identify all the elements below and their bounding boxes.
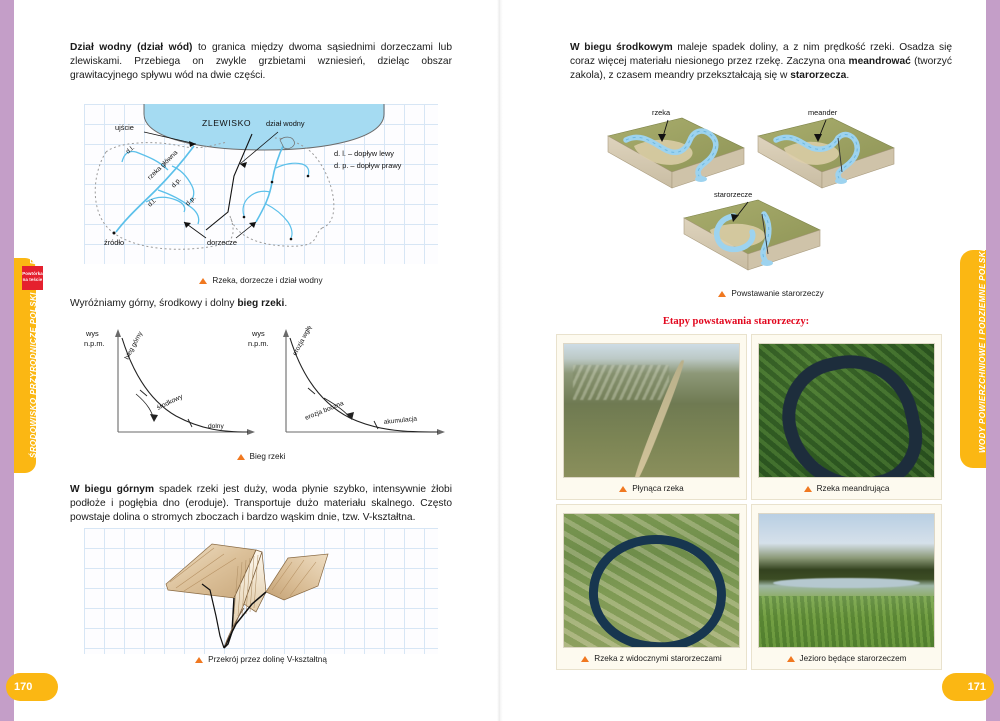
chart-right-ylabel-2: n.p.m. [248, 339, 269, 348]
book-spread: ŚRODOWISKO PRZYRODNICZE POLSKI NA TLE EU… [0, 0, 1000, 721]
label-dl-2: d.l. [147, 197, 158, 208]
photo-caption-4-text: Jezioro będące starorzeczem [800, 654, 907, 663]
oxbow-stage-3: starorzecze [684, 190, 820, 270]
powtorka-badge-line2: na teście [23, 277, 43, 282]
chart-right-tick-2 [374, 421, 378, 429]
aerial-river-photo [563, 343, 740, 478]
right-paragraph-1-run-5: . [846, 70, 849, 81]
left-paragraph-2-run-0: Wyróżniamy górny, środkowy i dolny [70, 298, 237, 309]
chart-left-flow-arrowhead [150, 414, 158, 422]
source-dot-5 [271, 181, 274, 184]
river-with-oxbows-photo [563, 513, 740, 648]
chart-left-yaxis-arrow [115, 329, 121, 337]
photo-caption-2-text: Rzeka meandrująca [817, 484, 890, 493]
photo-cell-3[interactable]: Rzeka z widocznymi starorzeczami [556, 504, 747, 670]
chart-river-gradient: wys n.p.m. bieg górny środkowy dolny [84, 329, 255, 435]
source-dot-4 [290, 238, 293, 241]
chart-right-yaxis-arrow [283, 329, 289, 337]
legend-dopływ-lewy: d. l. – dopływ lewy [334, 149, 394, 158]
photo-cell-4[interactable]: Jezioro będące starorzeczem [751, 504, 942, 670]
powtorka-badge-line1: Powtórka [22, 271, 43, 276]
label-meander: meander [808, 108, 838, 117]
powtorka-badge[interactable]: Powtórka na teście [22, 266, 43, 290]
section-heading-etapy-text: Etapy powstawania starorzeczy: [663, 316, 809, 327]
figure-v-valley-svg [84, 528, 438, 654]
page-number-left-value: 170 [14, 681, 32, 693]
figure-river-course-caption: Bieg rzeki [84, 452, 438, 461]
label-dorzecze: dorzecze [207, 238, 237, 247]
meandering-river-photo [758, 343, 935, 478]
figure-river-course-caption-text: Bieg rzeki [250, 452, 286, 461]
right-paragraph-1: W biegu środkowym maleje spadek doliny, … [570, 41, 952, 84]
caption-triangle-icon-5 [619, 486, 627, 492]
left-paragraph-3-run-0: W biegu górnym [70, 484, 159, 495]
caption-triangle-icon-4 [718, 291, 726, 297]
valley-right-plateau [266, 554, 328, 600]
photo-caption-4: Jezioro będące starorzeczem [787, 654, 907, 663]
left-paragraph-2-run-2: . [284, 298, 287, 309]
right-paragraph-1-run-4: starorzecza [790, 70, 846, 81]
page-gutter [497, 0, 503, 721]
chart-left-tick-1 [140, 390, 147, 396]
figure-watershed-caption: Rzeka, dorzecze i dział wodny [84, 276, 438, 285]
sea-area [144, 104, 384, 150]
left-paragraph-2-run-1: bieg rzeki [237, 298, 284, 309]
river-right-trib-3 [266, 204, 292, 238]
photo-cell-2[interactable]: Rzeka meandrująca [751, 334, 942, 500]
figure-oxbow-caption-text: Powstawanie starorzeczy [731, 289, 823, 298]
label-dp-1: d.p. [170, 176, 183, 189]
label-dzial-wodny: dział wodny [266, 119, 305, 128]
source-dot-3 [243, 216, 246, 219]
photo-cell-1[interactable]: Płynąca rzeka [556, 334, 747, 500]
right-paragraph-1-run-2: meandrować [849, 56, 915, 67]
page-number-right: 171 [942, 673, 994, 701]
caption-triangle-icon-2 [237, 454, 245, 460]
basin-outline-right [274, 138, 334, 228]
section-heading-etapy: Etapy powstawania starorzeczy: [500, 316, 972, 327]
sidebar-tab-left[interactable]: ŚRODOWISKO PRZYRODNICZE POLSKI NA TLE EU… [14, 258, 36, 473]
chart-erosion: wys n.p.m. erozja wgłębna erozja boczna … [248, 326, 445, 435]
caption-triangle-icon-3 [195, 657, 203, 663]
caption-triangle-icon-6 [804, 486, 812, 492]
caption-triangle-icon [199, 278, 207, 284]
label-rzeka: rzeka [652, 108, 671, 117]
chart-right-label-wglebna: erozja wgłębna [292, 326, 319, 357]
chart-left-ylabel-1: wys [85, 329, 99, 338]
label-zrodlo: źródło [104, 238, 124, 247]
source-dot-2 [307, 175, 310, 178]
photo-grid: Płynąca rzeka Rzeka meandrująca Rzeka z … [556, 334, 942, 670]
caption-triangle-icon-7 [581, 656, 589, 662]
legend-dopływ-prawy: d. p. – dopływ prawy [334, 161, 402, 170]
page-edge-left [0, 0, 14, 721]
left-paragraph-3: W biegu górnym spadek rzeki jest duży, w… [70, 483, 452, 526]
caption-triangle-icon-8 [787, 656, 795, 662]
right-paragraph-1-run-0: W biegu środkowym [570, 42, 677, 53]
photo-caption-1-text: Płynąca rzeka [632, 484, 683, 493]
figure-river-course-svg: wys n.p.m. bieg górny środkowy dolny wys… [84, 326, 452, 454]
block3-river-end [761, 260, 773, 266]
figure-watershed-caption-text: Rzeka, dorzecze i dział wodny [212, 276, 322, 285]
chart-right-tick-1 [308, 388, 315, 394]
figure-watershed-svg: ZLEWISKO [84, 104, 438, 264]
block2-river-end [835, 178, 847, 184]
figure-v-valley [84, 528, 438, 654]
figure-oxbow-svg: rzeka meander [586, 102, 956, 284]
photo-caption-1: Płynąca rzeka [619, 484, 683, 493]
valley-v-left-edge [224, 598, 234, 648]
sidebar-tab-right[interactable]: WODY POWIERZCHNIOWE I PODZIEMNE POLSKI [960, 250, 986, 468]
page-number-right-value: 171 [968, 681, 986, 693]
label-dp-2: d.p. [185, 195, 198, 208]
chart-left-label-dolny: dolny [208, 423, 224, 430]
page-edge-right [986, 0, 1000, 721]
left-paragraph-1-run-0: Dział wodny (dział wód) [70, 42, 198, 53]
oxbow-stage-2: meander [758, 108, 894, 188]
figure-oxbow-formation: rzeka meander [586, 102, 956, 284]
oxbow-lake-photo [758, 513, 935, 648]
label-starorzecze: starorzecze [714, 190, 752, 199]
label-ujscie: ujście [115, 123, 134, 132]
chart-left-ylabel-2: n.p.m. [84, 339, 105, 348]
river-right-main [256, 144, 284, 222]
chart-left-label-srodkowy: środkowy [156, 393, 185, 412]
block1-river-end [695, 176, 707, 182]
left-paragraph-2: Wyróżniamy górny, środkowy i dolny bieg … [70, 297, 452, 311]
chart-right-ylabel-1: wys [251, 329, 265, 338]
photo-caption-3: Rzeka z widocznymi starorzeczami [581, 654, 721, 663]
figure-v-valley-caption-text: Przekrój przez dolinę V-kształtną [208, 655, 327, 664]
left-paragraph-1: Dział wodny (dział wód) to granica międz… [70, 41, 452, 84]
figure-river-course: wys n.p.m. bieg górny środkowy dolny wys… [84, 326, 452, 454]
chart-right-label-boczna: erozja boczna [304, 400, 345, 422]
source-dot-1 [113, 232, 116, 235]
sidebar-tab-right-label: WODY POWIERZCHNIOWE I PODZIEMNE POLSKI [978, 249, 987, 453]
photo-caption-3-text: Rzeka z widocznymi starorzeczami [594, 654, 721, 663]
label-rzeka-glowna: rzeka główna [147, 149, 180, 181]
chart-left-xaxis-arrow [247, 429, 255, 435]
main-river [116, 146, 194, 232]
figure-watershed: ZLEWISKO [84, 104, 438, 264]
chart-left-label-gorny: bieg górny [124, 330, 145, 361]
chart-right-label-akumulacja: akumulacja [383, 416, 417, 426]
river-right-trib-1 [276, 163, 309, 176]
photo-caption-2: Rzeka meandrująca [804, 484, 890, 493]
arrow-dorzecze-left [184, 222, 191, 228]
figure-v-valley-caption: Przekrój przez dolinę V-kształtną [84, 655, 438, 664]
oxbow-stage-1: rzeka [608, 108, 744, 188]
chart-left-curve [122, 338, 248, 432]
sidebar-tab-left-label: ŚRODOWISKO PRZYRODNICZE POLSKI NA TLE EU… [29, 220, 38, 458]
label-zlewisko: ZLEWISKO [202, 118, 251, 128]
chart-right-xaxis-arrow [437, 429, 445, 435]
figure-oxbow-caption: Powstawanie starorzeczy [586, 289, 956, 298]
basin-outline-right-bottom [230, 216, 322, 246]
page-number-left: 170 [6, 673, 58, 701]
